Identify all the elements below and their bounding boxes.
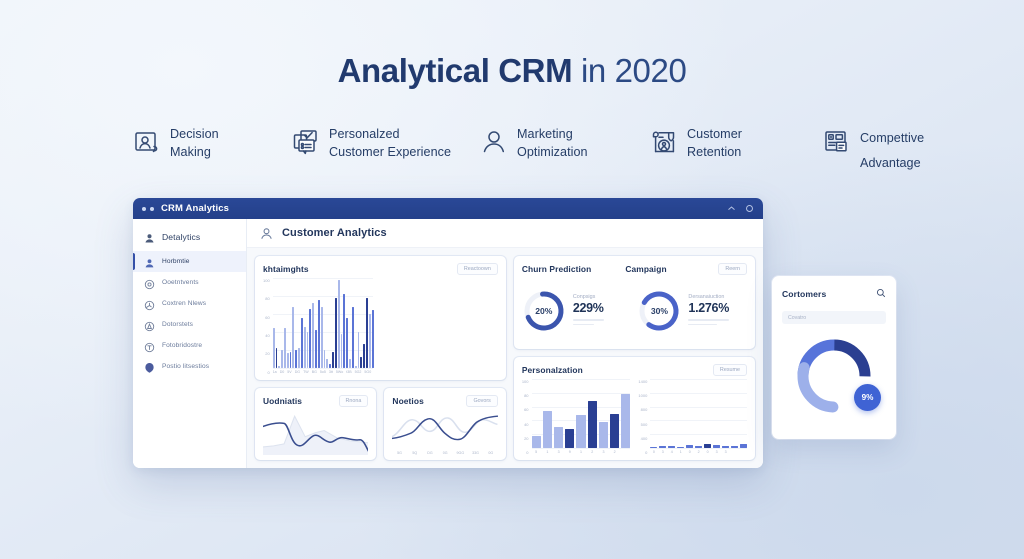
bar (287, 353, 289, 367)
feature-label: Personalzed Customer Experience (329, 126, 451, 162)
kpi-row: 20% Conpsigs 229% (522, 278, 747, 344)
bar (588, 401, 597, 448)
x-tick: 1 (677, 450, 684, 454)
bar (332, 352, 334, 368)
bar (304, 327, 306, 368)
bar (610, 414, 619, 448)
bar (309, 309, 311, 368)
bar (565, 429, 574, 448)
kpi-meta: Conpsigs 229% (573, 294, 604, 327)
x-tick: 3 (722, 450, 729, 454)
bar (695, 446, 702, 448)
x-tick: TW (303, 370, 309, 374)
feature-personalized-customer-experience: Personalzed Customer Experience (292, 126, 451, 162)
feature-customer-retention: Customer Retention (650, 126, 742, 162)
x-tick: 4 (668, 450, 675, 454)
minimize-icon[interactable] (727, 204, 736, 213)
bar (722, 446, 729, 448)
search-icon[interactable] (876, 285, 886, 303)
feature-marketing-optimization: Marketing Optimization (480, 126, 588, 162)
bar (576, 415, 585, 448)
customers-donut-chart: 9% (792, 334, 876, 418)
y-tick: 40 (522, 422, 529, 427)
bar (326, 359, 328, 368)
bar-series (650, 379, 747, 448)
bar (686, 445, 693, 448)
heart-filled-icon (144, 361, 155, 372)
bar (321, 307, 323, 368)
feature-label: Compettive Advantage (860, 126, 924, 176)
bar (312, 303, 314, 368)
sidebar-header: Detalytics (133, 227, 246, 251)
bar (349, 359, 351, 368)
bar (543, 411, 552, 448)
bar (677, 447, 684, 448)
y-tick: 80 (263, 296, 270, 301)
bar (290, 352, 292, 368)
x-tick: 1 (543, 450, 552, 454)
feature-line1: Compettive (860, 131, 924, 145)
y-tick: 20 (263, 351, 270, 356)
y-tick: 1400 (638, 379, 647, 384)
bar (338, 280, 340, 368)
bar-series (273, 278, 374, 368)
line-chart-right (392, 410, 497, 449)
window-body: Detalytics Horbmtie Ooetntvents (133, 219, 763, 468)
page-title-strong: Analytical CRM (338, 52, 573, 89)
x-tick: DG (423, 451, 437, 455)
customers-badge: 9% (854, 384, 881, 411)
clock-circle-icon (144, 298, 155, 309)
feature-line1: Decision (170, 127, 219, 141)
tag-circle-icon (144, 340, 155, 351)
bar (731, 446, 738, 448)
bar (301, 318, 303, 368)
page-title-light: in 2020 (572, 52, 686, 89)
bar (318, 300, 320, 368)
y-axis-labels: 140010008005004000 (638, 379, 650, 455)
bar (329, 364, 331, 368)
x-tick: 0 (704, 450, 711, 454)
user-icon (144, 231, 155, 242)
bar (352, 307, 354, 368)
y-tick: 400 (638, 436, 647, 441)
bar (369, 314, 371, 368)
bar (324, 350, 326, 368)
y-tick: 40 (263, 333, 270, 338)
feature-decision-making: Decision Making (133, 126, 219, 162)
y-tick: 60 (522, 407, 529, 412)
feature-label: Decision Making (170, 126, 219, 162)
x-tick: 5G (392, 451, 406, 455)
x-axis-labels: 1aD05VDGTWBG5o53tt5Wot3B5G25G0 (273, 370, 374, 374)
x-tick: D0 (280, 370, 285, 374)
x-tick: BG (312, 370, 317, 374)
feature-line1: Personalzed (329, 127, 400, 141)
bar (740, 444, 747, 448)
card-insights: khtaimghts Reactoown 100806040200 (255, 256, 506, 380)
x-tick (740, 450, 747, 454)
bar (704, 444, 711, 448)
x-tick: 5Q (408, 451, 422, 455)
bar (668, 446, 675, 448)
sidebar-item-fotobridostre[interactable]: Fotobridostre (133, 335, 246, 356)
x-tick: 0G (484, 451, 498, 455)
x-tick: 5 (532, 450, 541, 454)
bar (335, 298, 337, 368)
sidebar: Detalytics Horbmtie Ooetntvents (133, 219, 247, 468)
feature-line2: Optimization (517, 145, 588, 159)
feature-line2: Advantage (860, 156, 921, 170)
customers-panel-title: Cortomers (782, 289, 826, 299)
customers-panel-header: Cortomers (782, 285, 886, 303)
card-title: Uodniatis (263, 396, 302, 406)
x-tick: 0 (650, 450, 657, 454)
kpi-value: 1.276% (688, 301, 729, 315)
card-personalization: Personalzation Resume 100806040200 (514, 357, 755, 460)
y-tick: 0 (638, 450, 647, 455)
sidebar-item-label: Postio litsestios (162, 363, 209, 370)
user-profile-icon (480, 128, 508, 156)
uodniatis-action-button[interactable]: Rnona (339, 395, 369, 407)
card-title: khtaimghts (263, 264, 309, 274)
card-title: Personalzation (522, 365, 583, 375)
feature-line2: Making (170, 145, 211, 159)
bar-series (532, 379, 631, 448)
line-card-row: Uodniatis Rnona (255, 388, 506, 460)
feature-competitive-advantage: Compettive Advantage (823, 126, 924, 176)
x-tick: 0 (686, 450, 693, 454)
kpi-sparkbars (688, 319, 729, 325)
y-tick: 500 (638, 422, 647, 427)
card-noetios: Noetios Govors 5G5QDG0G9GG33G0G (384, 388, 505, 460)
bar (554, 427, 563, 448)
bar (295, 350, 297, 368)
main-content: Customer Analytics khtaimghts Reactoown (247, 219, 763, 468)
bar (315, 330, 317, 368)
card-header: Personalzation Resume (522, 364, 747, 376)
insights-chart: 100806040200 1aD05VDGTWBG5o53tt5Wot3B5G2… (263, 278, 498, 375)
y-tick: 80 (522, 393, 529, 398)
feature-row: Decision Making Personalzed Cus (0, 126, 1024, 186)
card-title-campaign: Campaign (625, 264, 666, 274)
bar (650, 447, 657, 448)
card-header: Churn Prediction Campaign Reern (522, 263, 747, 275)
sidebar-item-ooetntvents[interactable]: Ooetntvents (133, 272, 246, 293)
bar (281, 350, 283, 368)
sidebar-item-label: Coxtren Nlews (162, 300, 206, 307)
main-header: Customer Analytics (247, 219, 763, 248)
feature-line2: Customer Experience (329, 145, 451, 159)
kpi-caption: Dersanaiuction (688, 294, 729, 300)
bar (298, 348, 300, 368)
kpi-caption: Conpsigs (573, 294, 604, 300)
x-tick: 1a (273, 370, 277, 374)
bar (621, 394, 630, 448)
dashboard-grid: khtaimghts Reactoown 100806040200 (247, 248, 763, 468)
card-title: Noetios (392, 396, 423, 406)
y-tick: 0 (263, 370, 270, 375)
sidebar-item-label: Fotobridostre (162, 342, 202, 349)
bar (278, 366, 280, 368)
bar (284, 328, 286, 368)
user-filled-icon (144, 256, 155, 267)
x-tick: 3 (599, 450, 608, 454)
feature-label: Customer Retention (687, 126, 742, 162)
dual-bar-charts: 100806040200 51391232 (522, 379, 747, 455)
target-circle-icon (144, 277, 155, 288)
donut-churn: 20% (522, 289, 566, 333)
donut-label: 20% (522, 289, 566, 333)
x-tick: 5G2 (355, 370, 362, 374)
noetios-action-button[interactable]: Govors (466, 395, 497, 407)
donut-campaign: 30% (637, 289, 681, 333)
x-tick: 5G0 (364, 370, 371, 374)
sidebar-item-label: Horbmtie (162, 258, 190, 265)
user-avatar-icon (259, 226, 274, 241)
y-tick: 1000 (638, 393, 647, 398)
right-column: Churn Prediction Campaign Reern (514, 256, 755, 460)
sidebar-item-label: Dotorstets (162, 321, 193, 328)
y-axis-labels: 100806040200 (263, 278, 273, 375)
card-churn-campaign: Churn Prediction Campaign Reern (514, 256, 755, 349)
card-header: Noetios Govors (392, 395, 497, 407)
donut-label: 30% (637, 289, 681, 333)
bar (659, 446, 666, 448)
bar (363, 344, 365, 367)
personalization-chart-left: 100806040200 51391232 (522, 379, 631, 455)
personalization-chart-right: 140010008005004000 034102033 (638, 379, 747, 455)
x-tick: 2 (588, 450, 597, 454)
left-column: khtaimghts Reactoown 100806040200 (255, 256, 506, 460)
x-tick: 3 (713, 450, 720, 454)
y-tick: 0 (522, 450, 529, 455)
feature-line1: Customer (687, 127, 742, 141)
customers-search-input[interactable]: Covatro (782, 311, 886, 324)
personalization-action-button[interactable]: Resume (713, 364, 747, 376)
bar (713, 445, 720, 448)
y-tick: 100 (263, 278, 270, 283)
x-tick: 2 (610, 450, 619, 454)
bar (276, 348, 278, 368)
bar (532, 436, 541, 448)
circle-icon[interactable] (745, 204, 754, 213)
customers-panel: Cortomers Covatro 9% (772, 276, 896, 439)
y-tick: 100 (522, 379, 529, 384)
decision-person-frame-icon (133, 128, 161, 156)
x-tick (731, 450, 738, 454)
poster-canvas: Analytical CRM in 2020 Decision Making (0, 0, 1024, 559)
bar (372, 310, 374, 368)
card-uodniatis: Uodniatis Rnona (255, 388, 376, 460)
x-axis-labels: 034102033 (650, 450, 747, 454)
kpi-value: 229% (573, 301, 604, 315)
x-axis-labels: 51391232 (532, 450, 631, 454)
bar (292, 307, 294, 368)
churn-action-button[interactable]: Reern (718, 263, 747, 275)
window-title: CRM Analytics (161, 203, 229, 214)
x-tick: 5o5 (320, 370, 326, 374)
bar (307, 332, 309, 368)
bar (346, 318, 348, 368)
card-title-churn: Churn Prediction (522, 264, 592, 274)
card-header: khtaimghts Reactoown (263, 263, 498, 275)
kpi-churn: 20% Conpsigs 229% (522, 278, 632, 344)
y-tick: 20 (522, 436, 529, 441)
x-tick: 9GG (453, 451, 467, 455)
bar (341, 334, 343, 368)
y-tick: 800 (638, 407, 647, 412)
sidebar-item-coxtren-nlews[interactable]: Coxtren Nlews (133, 293, 246, 314)
dashboard-window: CRM Analytics Detalytics (133, 198, 763, 468)
x-tick: 33G (468, 451, 482, 455)
x-axis-labels: 5G5QDG0G9GG33G0G (392, 451, 497, 455)
x-tick: 5V (287, 370, 291, 374)
y-axis-labels: 100806040200 (522, 379, 532, 455)
x-tick: 3 (554, 450, 563, 454)
sidebar-item-postio-litsestios[interactable]: Postio litsestios (133, 356, 246, 377)
feature-line1: Marketing (517, 127, 573, 141)
x-tick: 5Wo (336, 370, 343, 374)
kpi-campaign: 30% Dersanaiuction 1.276% (637, 278, 747, 344)
sidebar-item-label: Ooetntvents (162, 279, 199, 286)
x-tick (621, 450, 630, 454)
sidebar-item-dotorstets[interactable]: Dotorstets (133, 314, 246, 335)
x-tick: 2 (695, 450, 702, 454)
feature-line2: Retention (687, 145, 741, 159)
bar (366, 298, 368, 368)
window-controls (727, 204, 754, 213)
customers-search-placeholder: Covatro (788, 315, 806, 321)
window-titlebar: CRM Analytics (133, 198, 763, 219)
personalized-form-icon (292, 128, 320, 156)
window-dots (142, 207, 154, 211)
retention-shield-person-icon (650, 128, 678, 156)
line-chart-left (263, 410, 368, 455)
x-tick: t3B (346, 370, 351, 374)
x-tick: 0G (438, 451, 452, 455)
bar (355, 366, 357, 368)
bar (273, 328, 275, 368)
alert-circle-icon (144, 319, 155, 330)
x-tick: 9 (565, 450, 574, 454)
kpi-meta: Dersanaiuction 1.276% (688, 294, 729, 327)
sidebar-item-horbmtie[interactable]: Horbmtie (133, 251, 246, 272)
main-header-title: Customer Analytics (282, 227, 387, 239)
insights-action-button[interactable]: Reactoown (457, 263, 498, 275)
x-tick: 3tt (329, 370, 333, 374)
sidebar-header-label: Detalytics (162, 232, 200, 242)
bar (343, 294, 345, 368)
bar (360, 357, 362, 368)
x-tick: 3 (659, 450, 666, 454)
bar (358, 332, 360, 368)
kpi-sparkbars (573, 319, 604, 325)
y-tick: 60 (263, 315, 270, 320)
x-tick: 1 (576, 450, 585, 454)
competitive-layout-icon (823, 128, 851, 156)
bar (599, 422, 608, 448)
x-tick: DG (295, 370, 300, 374)
page-title: Analytical CRM in 2020 (0, 52, 1024, 90)
feature-label: Marketing Optimization (517, 126, 588, 162)
card-header: Uodniatis Rnona (263, 395, 368, 407)
